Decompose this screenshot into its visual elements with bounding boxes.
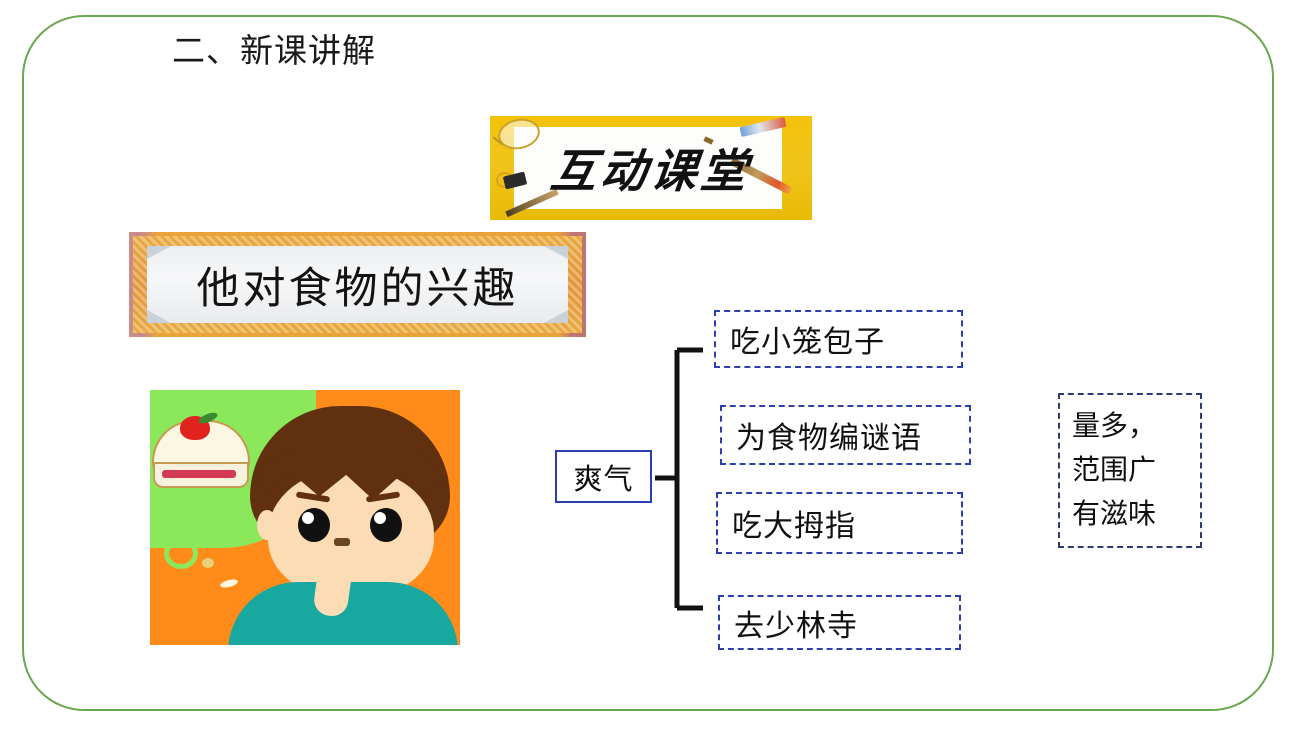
summary-line: 范围广 — [1072, 449, 1156, 493]
thought-bubble-tail-large — [164, 538, 198, 569]
boy-mouth — [334, 538, 350, 546]
detail-box: 为食物编谜语 — [720, 405, 971, 465]
banner-title: 互动课堂 — [485, 116, 818, 220]
diagram-summary-box: 量多， 范围广 有滋味 — [1058, 393, 1202, 548]
diagram-key-node: 爽气 — [555, 450, 652, 503]
slide-canvas: 二、新课讲解 互动课堂 他对食物的兴趣 — [0, 0, 1296, 729]
thought-bubble-tail-small — [219, 578, 238, 589]
detail-box: 吃大拇指 — [716, 492, 963, 554]
detail-box: 去少林寺 — [718, 595, 961, 650]
topic-heading-text: 他对食物的兴趣 — [147, 246, 568, 323]
interactive-classroom-banner: 互动课堂 — [490, 116, 812, 220]
thinking-boy-illustration — [150, 390, 460, 645]
summary-line: 有滋味 — [1072, 493, 1156, 537]
detail-box: 吃小笼包子 — [714, 310, 963, 368]
bracket-connector — [655, 340, 725, 640]
thought-bubble-tail-medium — [202, 558, 214, 568]
boy-eye-gleam-right — [374, 512, 386, 524]
summary-line: 量多， — [1072, 405, 1156, 449]
boy-eye-gleam-left — [302, 512, 314, 524]
page-title: 二、新课讲解 — [172, 31, 376, 73]
cake-filling-icon — [162, 470, 236, 478]
topic-heading-frame: 他对食物的兴趣 — [129, 232, 586, 337]
